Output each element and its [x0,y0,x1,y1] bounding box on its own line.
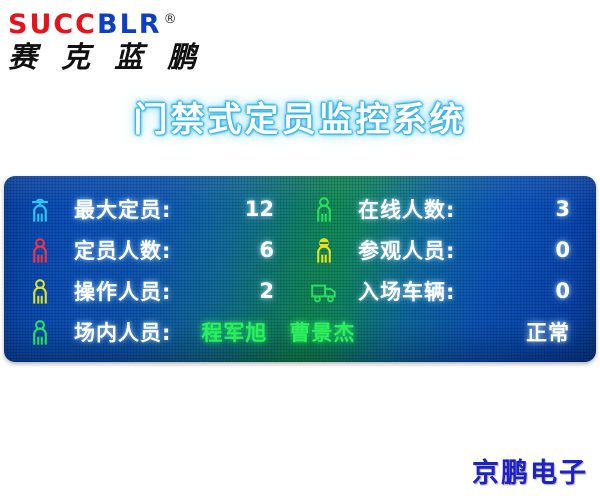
led-cell-onsite-personnel: 场内人员: 程军旭 曹景杰 正常 [4,317,596,347]
led-label: 场内人员: [74,317,171,347]
person-icon [26,235,54,265]
led-label: 最大定员: [74,194,171,224]
led-value: 2 [259,279,300,303]
led-value: 6 [259,238,300,262]
led-row: 操作人员: 2 入场车辆: 0 [4,270,596,311]
led-value: 0 [555,238,596,262]
led-value: 0 [555,279,596,303]
logo-succ-text: SUCC [8,9,97,40]
footer-company-logo: 京鹏电子 [472,451,588,490]
led-row: 定员人数: 6 参观人员: 0 [4,229,596,270]
led-label: 操作人员: [74,276,171,306]
page-title: 门禁式定员监控系统 [0,92,600,141]
led-label: 入场车辆: [358,276,455,306]
logo-latin-text: SUCCBLR® [8,6,238,39]
led-content-grid: 最大定员: 12 在线人数: 3 [4,176,596,362]
led-cell-online-count: 在线人数: 3 [300,188,596,229]
led-cell-vehicle-count: 入场车辆: 0 [300,270,596,311]
led-cell-registered-count: 定员人数: 6 [4,229,300,270]
led-display-panel: 最大定员: 12 在线人数: 3 [4,176,596,362]
company-logo: SUCCBLR® 赛 克 蓝 鹏 [8,6,238,74]
status-badge: 正常 [526,317,596,347]
onsite-label-group: 场内人员: [4,317,171,347]
truck-icon [310,276,338,306]
logo-blr-text: BLR [97,9,162,40]
logo-chinese-text: 赛 克 蓝 鹏 [8,40,238,74]
person-icon [310,194,338,224]
list-item: 曹景杰 [289,317,355,347]
onsite-names-list: 程军旭 曹景杰 [201,317,526,347]
person-icon [26,317,54,347]
person-visitor-icon [310,235,338,265]
person-hardhat-icon [26,194,54,224]
led-value: 3 [555,197,596,221]
led-label: 在线人数: [358,194,455,224]
registered-trademark-icon: ® [164,12,177,27]
led-cell-visitor-count: 参观人员: 0 [300,229,596,270]
person-icon [26,276,54,306]
led-label: 定员人数: [74,235,171,265]
list-item: 程军旭 [201,317,267,347]
led-value: 12 [245,197,300,221]
led-cell-operator-count: 操作人员: 2 [4,270,300,311]
led-cell-max-capacity: 最大定员: 12 [4,188,300,229]
led-label: 参观人员: [358,235,455,265]
led-row: 最大定员: 12 在线人数: 3 [4,188,596,229]
led-row: 场内人员: 程军旭 曹景杰 正常 [4,311,596,352]
